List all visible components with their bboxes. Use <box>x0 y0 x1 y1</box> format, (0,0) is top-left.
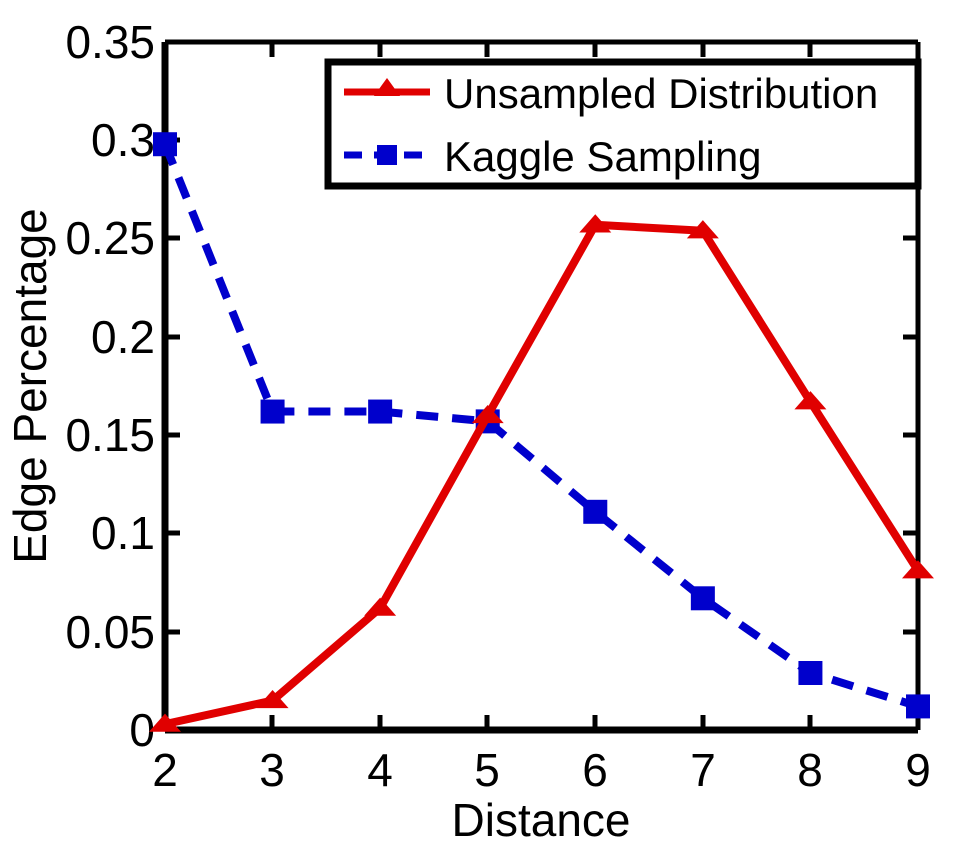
square-marker-icon <box>377 145 397 165</box>
x-axis-title: Distance <box>452 794 631 846</box>
y-tick-label: 0.1 <box>91 507 155 559</box>
x-tick-label: 5 <box>474 744 500 796</box>
data-point <box>906 694 930 718</box>
data-point <box>798 661 822 685</box>
chart-figure: 0 0.05 0.1 0.15 0.2 0.25 0.3 0.35 2 3 4 … <box>0 0 960 860</box>
y-axis-title: Edge Percentage <box>4 208 56 564</box>
y-tick-label: 0.25 <box>65 212 155 264</box>
x-tick-label: 7 <box>690 744 716 796</box>
data-point <box>368 400 392 424</box>
y-tick-label: 0.3 <box>91 114 155 166</box>
x-tick-labels: 2 3 4 5 6 7 8 9 <box>152 744 931 796</box>
line-chart: 0 0.05 0.1 0.15 0.2 0.25 0.3 0.35 2 3 4 … <box>0 0 960 860</box>
y-tick-label: 0.05 <box>65 606 155 658</box>
x-tick-label: 2 <box>152 744 178 796</box>
data-point <box>153 132 177 156</box>
x-tick-label: 9 <box>905 744 931 796</box>
data-point <box>691 586 715 610</box>
x-tick-label: 8 <box>797 744 823 796</box>
legend[interactable]: Unsampled Distribution Kaggle Sampling <box>328 62 918 186</box>
y-tick-label: 0.15 <box>65 409 155 461</box>
x-tick-label: 4 <box>367 744 393 796</box>
legend-label-unsampled-distribution: Unsampled Distribution <box>444 70 878 117</box>
legend-label-kaggle-sampling: Kaggle Sampling <box>444 133 762 180</box>
x-tick-label: 3 <box>259 744 285 796</box>
x-tick-label: 6 <box>582 744 608 796</box>
data-point <box>583 500 607 524</box>
y-tick-label: 0.2 <box>91 311 155 363</box>
y-tick-label: 0.35 <box>65 16 155 68</box>
y-tick-labels: 0 0.05 0.1 0.15 0.2 0.25 0.3 0.35 <box>65 16 155 756</box>
data-point <box>261 400 285 424</box>
